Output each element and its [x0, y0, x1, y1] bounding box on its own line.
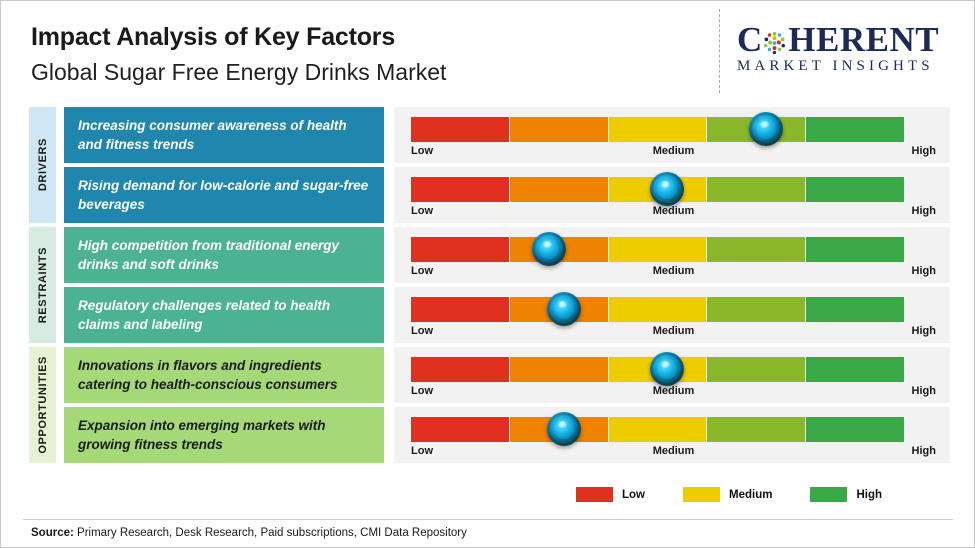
scale-segment-3	[609, 297, 707, 322]
impact-matrix: DRIVERSIncreasing consumer awareness of …	[1, 101, 975, 481]
scale-segment-1	[411, 177, 509, 202]
scale-label-high: High	[912, 445, 936, 457]
slide-canvas: Impact Analysis of Key Factors Global Su…	[0, 0, 975, 548]
category-label: RESTRAINTS	[37, 247, 49, 323]
scale-segment-4	[707, 417, 805, 442]
header-dashed-divider	[719, 9, 720, 93]
legend-swatch	[810, 487, 847, 502]
scale-segment-1	[411, 357, 509, 382]
scale-segment-3	[609, 237, 707, 262]
legend-item: Medium	[683, 487, 772, 502]
legend-item: High	[810, 487, 882, 502]
impact-gauge-row: LowMediumHigh	[394, 167, 950, 223]
factor-text: Regulatory challenges related to health …	[78, 296, 370, 334]
impact-marker-orb[interactable]	[547, 412, 581, 446]
scale-segment-4	[707, 357, 805, 382]
scale-label-medium: Medium	[653, 205, 695, 217]
title-block: Impact Analysis of Key Factors Global Su…	[31, 21, 446, 88]
legend-swatch	[683, 487, 720, 502]
scale-label-high: High	[912, 205, 936, 217]
scale-labels: LowMediumHigh	[411, 145, 936, 161]
scale-label-low: Low	[411, 445, 433, 457]
scale-segment-2	[510, 177, 608, 202]
factor-text: High competition from traditional energy…	[78, 236, 370, 274]
scale-segment-5	[806, 357, 904, 382]
scale-labels: LowMediumHigh	[411, 205, 936, 221]
impact-gauge-row: LowMediumHigh	[394, 107, 950, 163]
legend: LowMediumHigh	[576, 487, 882, 502]
scale-labels: LowMediumHigh	[411, 385, 936, 401]
scale-segment-5	[806, 297, 904, 322]
impact-gauge-row: LowMediumHigh	[394, 407, 950, 463]
scale-label-medium: Medium	[653, 325, 695, 337]
page-title: Impact Analysis of Key Factors	[31, 21, 446, 53]
scale-segment-5	[806, 117, 904, 142]
scale-segment-3	[609, 117, 707, 142]
impact-marker-orb[interactable]	[532, 232, 566, 266]
scale-label-high: High	[912, 325, 936, 337]
impact-marker-orb[interactable]	[749, 112, 783, 146]
scale-labels: LowMediumHigh	[411, 445, 936, 461]
scale-label-medium: Medium	[653, 445, 695, 457]
scale-segment-1	[411, 237, 509, 262]
scale-segment-1	[411, 417, 509, 442]
scale-segment-5	[806, 177, 904, 202]
factor-box[interactable]: Expansion into emerging markets with gro…	[64, 407, 384, 463]
impact-scale-bar[interactable]	[411, 237, 904, 262]
scale-segment-5	[806, 417, 904, 442]
source-label: Source:	[31, 527, 74, 539]
scale-label-low: Low	[411, 325, 433, 337]
source-note: Source: Primary Research, Desk Research,…	[31, 527, 467, 539]
scale-segment-5	[806, 237, 904, 262]
category-strip-restraints: RESTRAINTS	[29, 227, 56, 343]
logo-letter-c: C	[737, 23, 762, 57]
factor-text: Expansion into emerging markets with gro…	[78, 416, 370, 454]
factor-text: Rising demand for low-calorie and sugar-…	[78, 176, 370, 214]
scale-segment-1	[411, 117, 509, 142]
scale-label-high: High	[912, 145, 936, 157]
category-label: OPPORTUNITIES	[37, 356, 49, 454]
factor-text: Increasing consumer awareness of health …	[78, 116, 370, 154]
legend-label: Medium	[729, 489, 772, 501]
scale-label-medium: Medium	[653, 145, 695, 157]
scale-segment-4	[707, 297, 805, 322]
scale-segment-3	[609, 417, 707, 442]
scale-label-low: Low	[411, 265, 433, 277]
scale-label-medium: Medium	[653, 265, 695, 277]
factor-box[interactable]: High competition from traditional energy…	[64, 227, 384, 283]
factor-box[interactable]: Increasing consumer awareness of health …	[64, 107, 384, 163]
scale-segment-2	[510, 357, 608, 382]
source-text: Primary Research, Desk Research, Paid su…	[74, 527, 467, 539]
scale-labels: LowMediumHigh	[411, 265, 936, 281]
impact-marker-orb[interactable]	[547, 292, 581, 326]
page-subtitle: Global Sugar Free Energy Drinks Market	[31, 56, 446, 88]
scale-segment-4	[707, 237, 805, 262]
globe-dots-icon	[762, 30, 787, 55]
legend-label: High	[856, 489, 882, 501]
logo-tagline: MARKET INSIGHTS	[737, 58, 963, 75]
category-strip-drivers: DRIVERS	[29, 107, 56, 223]
scale-segment-2	[510, 117, 608, 142]
logo-word-rest: HERENT	[788, 23, 939, 57]
scale-label-low: Low	[411, 205, 433, 217]
header: Impact Analysis of Key Factors Global Su…	[1, 1, 975, 101]
scale-label-medium: Medium	[653, 385, 695, 397]
scale-label-high: High	[912, 265, 936, 277]
scale-segment-1	[411, 297, 509, 322]
factor-text: Innovations in flavors and ingredients c…	[78, 356, 370, 394]
logo-wordmark: C	[737, 23, 963, 57]
legend-swatch	[576, 487, 613, 502]
impact-scale-bar[interactable]	[411, 117, 904, 142]
footer-divider	[23, 519, 953, 520]
impact-scale-bar[interactable]	[411, 297, 904, 322]
legend-item: Low	[576, 487, 645, 502]
scale-label-low: Low	[411, 385, 433, 397]
scale-segment-4	[707, 177, 805, 202]
company-logo: C	[737, 23, 963, 75]
scale-label-low: Low	[411, 145, 433, 157]
impact-gauge-row: LowMediumHigh	[394, 287, 950, 343]
category-label: DRIVERS	[37, 138, 49, 191]
scale-label-high: High	[912, 385, 936, 397]
scale-labels: LowMediumHigh	[411, 325, 936, 341]
factor-box[interactable]: Rising demand for low-calorie and sugar-…	[64, 167, 384, 223]
impact-gauge-row: LowMediumHigh	[394, 347, 950, 403]
impact-gauge-row: LowMediumHigh	[394, 227, 950, 283]
factor-box[interactable]: Innovations in flavors and ingredients c…	[64, 347, 384, 403]
category-strip-opportunities: OPPORTUNITIES	[29, 347, 56, 463]
impact-scale-bar[interactable]	[411, 417, 904, 442]
factor-box[interactable]: Regulatory challenges related to health …	[64, 287, 384, 343]
legend-label: Low	[622, 489, 645, 501]
